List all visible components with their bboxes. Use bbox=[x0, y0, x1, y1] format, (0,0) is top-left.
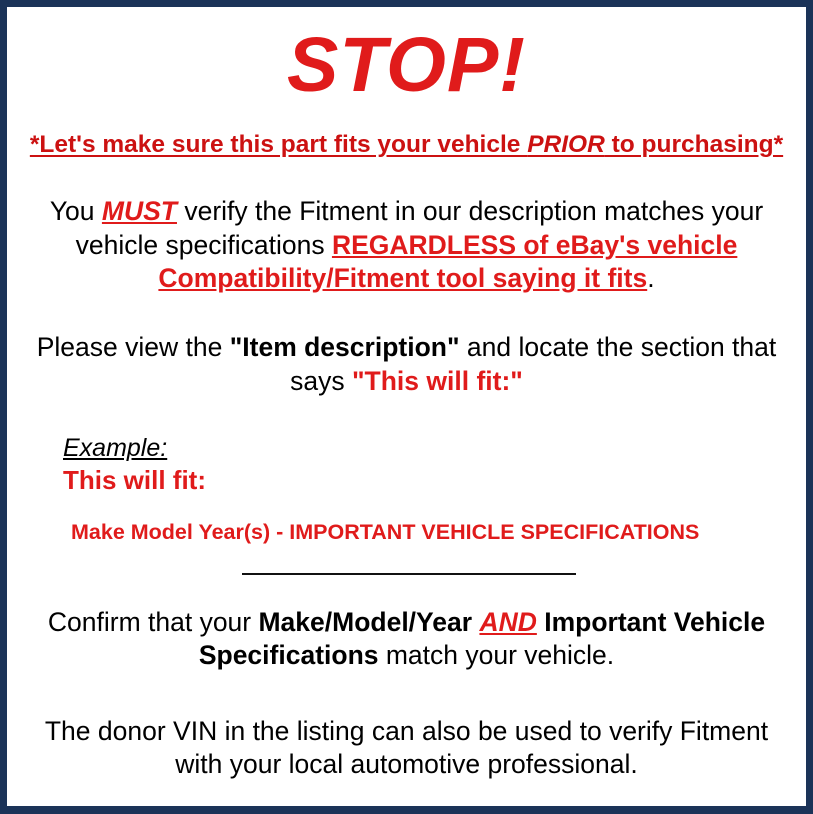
fitment-notice-frame: STOP! *Let's make sure this part fits yo… bbox=[0, 0, 813, 814]
must-verify-paragraph: You MUST verify the Fitment in our descr… bbox=[17, 195, 796, 295]
example-label-row: Example: bbox=[63, 434, 796, 463]
fitment-notice-card: STOP! *Let's make sure this part fits yo… bbox=[7, 7, 806, 806]
subtitle-part2: to purchasing* bbox=[605, 131, 783, 158]
confirm-paragraph: Confirm that your Make/Model/Year AND Im… bbox=[17, 606, 796, 673]
donor-vin-paragraph: The donor VIN in the listing can also be… bbox=[17, 715, 796, 782]
confirm-lead-text: Confirm that your bbox=[48, 607, 259, 637]
example-this-will-fit: This will fit: bbox=[63, 465, 796, 496]
must-emphasis: MUST bbox=[102, 196, 177, 226]
example-spec-line: Make Model Year(s) - IMPORTANT VEHICLE S… bbox=[63, 520, 796, 545]
example-label: Example: bbox=[63, 434, 167, 463]
this-will-fit-quote: "This will fit:" bbox=[352, 366, 523, 396]
view-description-paragraph: Please view the "Item description" and l… bbox=[17, 331, 796, 398]
and-emphasis: AND bbox=[479, 607, 536, 637]
stop-heading: STOP! bbox=[17, 27, 796, 104]
section-divider bbox=[17, 569, 796, 579]
make-model-year-emphasis: Make/Model/Year bbox=[258, 607, 472, 637]
subtitle-part1: *Let's make sure this part fits your veh… bbox=[30, 131, 527, 158]
must-tail-text: . bbox=[647, 263, 654, 293]
example-block: Example: This will fit: Make Model Year(… bbox=[17, 434, 796, 545]
item-description-emphasis: "Item description" bbox=[230, 332, 460, 362]
divider-line bbox=[242, 573, 576, 575]
view-lead-text: Please view the bbox=[37, 332, 230, 362]
subtitle-line: *Let's make sure this part fits your veh… bbox=[17, 131, 796, 159]
confirm-tail-text: match your vehicle. bbox=[379, 640, 615, 670]
must-lead-text: You bbox=[50, 196, 102, 226]
subtitle-prior-emphasis: PRIOR bbox=[527, 131, 605, 158]
